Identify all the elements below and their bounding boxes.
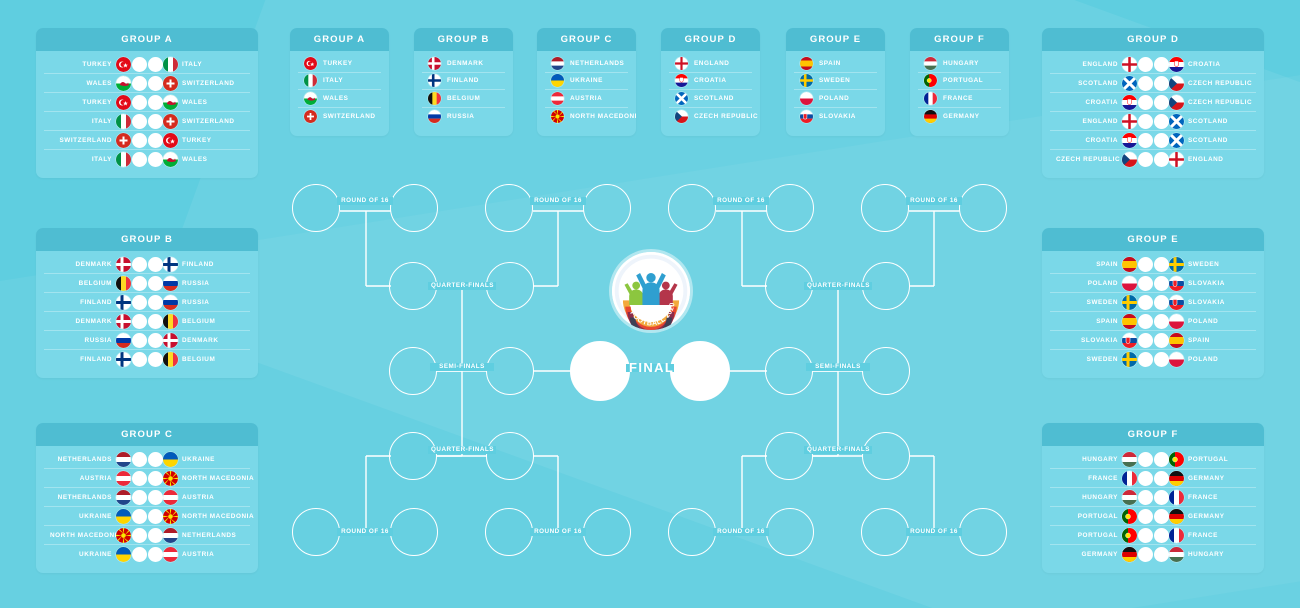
group-title: GROUP D <box>1042 28 1264 51</box>
score-away[interactable] <box>148 314 163 329</box>
home-team: PORTUGAL <box>1056 532 1122 539</box>
flag-slovakia <box>1169 276 1184 291</box>
bracket-node-r16-5[interactable] <box>668 184 716 232</box>
score-away[interactable] <box>1154 452 1169 467</box>
score-away[interactable] <box>1154 257 1169 272</box>
score-away[interactable] <box>1154 276 1169 291</box>
flag-czech-republic <box>1122 152 1137 167</box>
score-home[interactable] <box>1138 547 1153 562</box>
away-team: SCOTLAND <box>1184 137 1250 144</box>
score-away[interactable] <box>148 471 163 486</box>
match-row[interactable]: WALESSWITZERLAND <box>44 74 250 93</box>
group-panel-e: GROUP E SPAINSWEDEN POLANDSLOVAKIA SWEDE… <box>1042 228 1264 378</box>
flag-germany <box>1169 471 1184 486</box>
match-row[interactable]: SWEDENPOLAND <box>1050 350 1256 369</box>
match-row[interactable]: FRANCEGERMANY <box>1050 469 1256 488</box>
bracket-node-r16-14[interactable] <box>766 508 814 556</box>
score-away[interactable] <box>1154 76 1169 91</box>
bracket-node-r16-12[interactable] <box>583 508 631 556</box>
group-matches: ENGLANDCROATIA SCOTLANDCZECH REPUBLIC CR… <box>1042 51 1264 175</box>
match-row[interactable]: BELGIUMRUSSIA <box>44 274 250 293</box>
score-away[interactable] <box>1154 547 1169 562</box>
away-team: RUSSIA <box>178 299 244 306</box>
flag-netherlands <box>116 452 131 467</box>
flag-finland <box>116 295 131 310</box>
match-row[interactable]: SWEDENSLOVAKIA <box>1050 293 1256 312</box>
score-home[interactable] <box>132 57 147 72</box>
home-team: SWEDEN <box>1056 299 1122 306</box>
flag-austria <box>551 92 564 105</box>
home-team: SWITZERLAND <box>50 137 116 144</box>
team-name: SCOTLAND <box>694 95 734 102</box>
bracket-node-r16-7[interactable] <box>861 184 909 232</box>
score-home[interactable] <box>1138 333 1153 348</box>
match-row[interactable]: AUSTRIANORTH MACEDONIA <box>44 469 250 488</box>
bracket-label-final: FINAL <box>626 364 674 372</box>
score-away[interactable] <box>1154 333 1169 348</box>
away-team: SCOTLAND <box>1184 118 1250 125</box>
score-away[interactable] <box>1154 352 1169 367</box>
score-home[interactable] <box>132 257 147 272</box>
score-home[interactable] <box>1138 352 1153 367</box>
score-home[interactable] <box>132 276 147 291</box>
bracket-node-r16-4[interactable] <box>583 184 631 232</box>
bracket-node-final-left[interactable] <box>570 341 630 401</box>
group-panel-f: GROUP F HUNGARYPORTUGAL FRANCEGERMANY HU… <box>1042 423 1264 573</box>
list-item[interactable]: NETHERLANDS <box>545 55 628 73</box>
score-home[interactable] <box>132 76 147 91</box>
bracket-node-r16-8[interactable] <box>959 184 1007 232</box>
group-title: GROUP A <box>36 28 258 51</box>
bracket-node-r16-3[interactable] <box>485 184 533 232</box>
score-away[interactable] <box>1154 95 1169 110</box>
team-name: SWEDEN <box>819 77 850 84</box>
list-item[interactable]: BELGIUM <box>422 90 505 108</box>
flag-russia <box>163 295 178 310</box>
flag-czech-republic <box>1169 76 1184 91</box>
team-name: ENGLAND <box>694 60 729 67</box>
team-name: TURKEY <box>323 60 353 67</box>
score-home[interactable] <box>1138 528 1153 543</box>
away-team: AUSTRIA <box>178 494 244 501</box>
home-team: UKRAINE <box>50 551 116 558</box>
away-team: FRANCE <box>1184 532 1250 539</box>
list-item[interactable]: AUSTRIA <box>545 90 628 108</box>
list-item[interactable]: NORTH MACEDONIA <box>545 108 628 126</box>
flag-poland <box>1169 352 1184 367</box>
bracket-node-r16-11[interactable] <box>485 508 533 556</box>
away-team: DENMARK <box>178 337 244 344</box>
team-name: CROATIA <box>694 77 727 84</box>
bracket-node-r16-16[interactable] <box>959 508 1007 556</box>
group-matches: HUNGARYPORTUGAL FRANCEGERMANY HUNGARYFRA… <box>1042 446 1264 570</box>
flag-poland <box>800 92 813 105</box>
home-team: FRANCE <box>1056 475 1122 482</box>
score-home[interactable] <box>1138 452 1153 467</box>
score-away[interactable] <box>148 547 163 562</box>
away-team: SWITZERLAND <box>178 118 244 125</box>
score-home[interactable] <box>132 452 147 467</box>
flag-england <box>1122 114 1137 129</box>
list-item[interactable]: ENGLAND <box>669 55 752 73</box>
home-team: NETHERLANDS <box>50 456 116 463</box>
logo-artwork: FOOTBALL 2020 <box>612 252 690 330</box>
home-team: CZECH REPUBLIC <box>1056 156 1122 163</box>
score-away[interactable] <box>148 276 163 291</box>
score-home[interactable] <box>132 152 147 167</box>
flag-ukraine <box>551 74 564 87</box>
bracket-node-sf-1[interactable] <box>389 347 437 395</box>
score-home[interactable] <box>132 133 147 148</box>
score-home[interactable] <box>132 352 147 367</box>
flag-czech-republic <box>675 110 688 123</box>
match-row[interactable]: SPAINSWEDEN <box>1050 255 1256 274</box>
match-row[interactable]: POLANDSLOVAKIA <box>1050 274 1256 293</box>
home-team: SPAIN <box>1056 318 1122 325</box>
score-home[interactable] <box>1138 490 1153 505</box>
match-row[interactable]: NETHERLANDSAUSTRIA <box>44 488 250 507</box>
flag-wales <box>163 152 178 167</box>
standings-panel-group-e: GROUP E SPAIN SWEDEN POLAND SLOVAKIA <box>786 28 885 136</box>
home-team: SPAIN <box>1056 261 1122 268</box>
bracket-label-sf-1: SEMI-FINALS <box>430 363 494 371</box>
list-item[interactable]: TURKEY <box>298 55 381 73</box>
score-home[interactable] <box>132 547 147 562</box>
bracket-node-qf-7[interactable] <box>765 432 813 480</box>
group-matches: DENMARKFINLAND BELGIUMRUSSIA FINLANDRUSS… <box>36 251 258 375</box>
flag-finland <box>116 352 131 367</box>
list-item[interactable]: UKRAINE <box>545 73 628 91</box>
football-2020-logo: FOOTBALL 2020 <box>612 252 690 330</box>
match-row[interactable]: ENGLANDSCOTLAND <box>1050 112 1256 131</box>
flag-russia <box>428 110 441 123</box>
flag-north-macedonia <box>551 110 564 123</box>
score-home[interactable] <box>132 490 147 505</box>
flag-turkey <box>116 95 131 110</box>
bracket-node-r16-13[interactable] <box>668 508 716 556</box>
home-team: ENGLAND <box>1056 118 1122 125</box>
home-team: ITALY <box>50 118 116 125</box>
team-name: BELGIUM <box>447 95 480 102</box>
away-team: HUNGARY <box>1184 551 1250 558</box>
score-home[interactable] <box>132 471 147 486</box>
score-away[interactable] <box>148 57 163 72</box>
flag-belgium <box>428 92 441 105</box>
flag-portugal <box>1122 528 1137 543</box>
home-team: CROATIA <box>1056 137 1122 144</box>
away-team: SLOVAKIA <box>1184 299 1250 306</box>
group-panel-b: GROUP B DENMARKFINLAND BELGIUMRUSSIA FIN… <box>36 228 258 378</box>
match-row[interactable]: NORTH MACEDONIANETHERLANDS <box>44 526 250 545</box>
flag-north-macedonia <box>163 509 178 524</box>
bracket-node-r16-6[interactable] <box>766 184 814 232</box>
bracket-label-r16-3: ROUND OF 16 <box>713 197 769 205</box>
bracket-node-sf-4[interactable] <box>862 347 910 395</box>
score-home[interactable] <box>1138 314 1153 329</box>
match-row[interactable]: RUSSIADENMARK <box>44 331 250 350</box>
flag-france <box>1169 490 1184 505</box>
score-home[interactable] <box>132 95 147 110</box>
score-away[interactable] <box>1154 490 1169 505</box>
flag-wales <box>304 92 317 105</box>
flag-italy <box>116 152 131 167</box>
match-row[interactable]: ENGLANDCROATIA <box>1050 55 1256 74</box>
flag-wales <box>163 95 178 110</box>
bracket-label-r16-5: ROUND OF 16 <box>337 528 393 536</box>
flag-turkey <box>116 57 131 72</box>
flag-scotland <box>1169 114 1184 129</box>
flag-netherlands <box>116 490 131 505</box>
group-title: GROUP F <box>1042 423 1264 446</box>
flag-croatia <box>675 74 688 87</box>
list-item[interactable]: POLAND <box>794 90 877 108</box>
away-team: FINLAND <box>178 261 244 268</box>
match-row[interactable]: ITALYWALES <box>44 150 250 169</box>
list-item[interactable]: DENMARK <box>422 55 505 73</box>
bracket-label-r16-4: ROUND OF 16 <box>906 197 962 205</box>
score-away[interactable] <box>1154 314 1169 329</box>
bracket-node-qf-8[interactable] <box>862 432 910 480</box>
flag-croatia <box>1169 57 1184 72</box>
match-row[interactable]: SCOTLANDCZECH REPUBLIC <box>1050 74 1256 93</box>
score-home[interactable] <box>132 114 147 129</box>
score-away[interactable] <box>1154 152 1169 167</box>
flag-hungary <box>1169 547 1184 562</box>
match-row[interactable]: HUNGARYFRANCE <box>1050 488 1256 507</box>
away-team: GERMANY <box>1184 513 1250 520</box>
bracket-node-r16-10[interactable] <box>390 508 438 556</box>
flag-ukraine <box>116 509 131 524</box>
home-team: SWEDEN <box>1056 356 1122 363</box>
away-team: WALES <box>178 156 244 163</box>
score-away[interactable] <box>1154 528 1169 543</box>
list-item[interactable]: ITALY <box>298 73 381 91</box>
bracket-node-sf-3[interactable] <box>765 347 813 395</box>
team-name: FINLAND <box>447 77 479 84</box>
flag-slovakia <box>800 110 813 123</box>
list-item[interactable]: SLOVAKIA <box>794 108 877 126</box>
flag-finland <box>428 74 441 87</box>
away-team: POLAND <box>1184 356 1250 363</box>
score-home[interactable] <box>132 333 147 348</box>
score-home[interactable] <box>1138 295 1153 310</box>
match-row[interactable]: FINLANDRUSSIA <box>44 293 250 312</box>
bracket-node-r16-2[interactable] <box>390 184 438 232</box>
away-team: CZECH REPUBLIC <box>1184 80 1250 87</box>
team-name: FRANCE <box>943 95 973 102</box>
away-team: NETHERLANDS <box>178 532 244 539</box>
flag-france <box>924 92 937 105</box>
list-item[interactable]: WALES <box>298 90 381 108</box>
list-item[interactable]: PORTUGAL <box>918 73 1001 91</box>
list-item[interactable]: HUNGARY <box>918 55 1001 73</box>
home-team: UKRAINE <box>50 513 116 520</box>
bracket-node-final-right[interactable] <box>670 341 730 401</box>
away-team: NORTH MACEDONIA <box>178 513 244 520</box>
score-away[interactable] <box>1154 57 1169 72</box>
tournament-bracket-poster: ROUND OF 16 ROUND OF 16 ROUND OF 16 ROUN… <box>0 0 1300 608</box>
score-home[interactable] <box>1138 76 1153 91</box>
match-row[interactable]: TURKEYITALY <box>44 55 250 74</box>
bracket-label-r16-1: ROUND OF 16 <box>337 197 393 205</box>
match-row[interactable]: ITALYSWITZERLAND <box>44 112 250 131</box>
score-away[interactable] <box>148 152 163 167</box>
list-item[interactable]: FRANCE <box>918 90 1001 108</box>
score-home[interactable] <box>1138 95 1153 110</box>
bracket-node-qf-6[interactable] <box>486 432 534 480</box>
home-team: HUNGARY <box>1056 456 1122 463</box>
flag-slovakia <box>1169 295 1184 310</box>
flag-denmark <box>116 257 131 272</box>
score-away[interactable] <box>148 257 163 272</box>
home-team: DENMARK <box>50 261 116 268</box>
away-team: UKRAINE <box>178 456 244 463</box>
match-row[interactable]: DENMARKBELGIUM <box>44 312 250 331</box>
group-matches: TURKEYITALY WALESSWITZERLAND TURKEYWALES… <box>36 51 258 175</box>
away-team: BELGIUM <box>178 318 244 325</box>
flag-spain <box>800 57 813 70</box>
score-home[interactable] <box>1138 57 1153 72</box>
match-row[interactable]: PORTUGALGERMANY <box>1050 507 1256 526</box>
list-item[interactable]: SCOTLAND <box>669 90 752 108</box>
away-team: GERMANY <box>1184 475 1250 482</box>
bracket-node-qf-5[interactable] <box>389 432 437 480</box>
bracket-node-r16-9[interactable] <box>292 508 340 556</box>
home-team: CROATIA <box>1056 99 1122 106</box>
score-home[interactable] <box>132 295 147 310</box>
score-away[interactable] <box>148 452 163 467</box>
list-item[interactable]: CZECH REPUBLIC <box>669 108 752 126</box>
home-team: TURKEY <box>50 99 116 106</box>
match-row[interactable]: PORTUGALFRANCE <box>1050 526 1256 545</box>
score-home[interactable] <box>1138 152 1153 167</box>
home-team: BELGIUM <box>50 280 116 287</box>
flag-germany <box>1169 509 1184 524</box>
team-name: SLOVAKIA <box>819 113 856 120</box>
list-item[interactable]: RUSSIA <box>422 108 505 126</box>
bracket-node-sf-2[interactable] <box>486 347 534 395</box>
group-panel-d: GROUP D ENGLANDCROATIA SCOTLANDCZECH REP… <box>1042 28 1264 178</box>
list-item[interactable]: SPAIN <box>794 55 877 73</box>
flag-belgium <box>116 276 131 291</box>
match-row[interactable]: CROATIACZECH REPUBLIC <box>1050 93 1256 112</box>
score-away[interactable] <box>148 295 163 310</box>
match-row[interactable]: SLOVAKIASPAIN <box>1050 331 1256 350</box>
score-away[interactable] <box>148 133 163 148</box>
standings-title: GROUP F <box>910 28 1009 51</box>
flag-portugal <box>924 74 937 87</box>
score-away[interactable] <box>148 76 163 91</box>
bracket-node-r16-15[interactable] <box>861 508 909 556</box>
score-home[interactable] <box>1138 509 1153 524</box>
score-away[interactable] <box>148 95 163 110</box>
flag-croatia <box>1122 95 1137 110</box>
group-panel-c: GROUP C NETHERLANDSUKRAINE AUSTRIANORTH … <box>36 423 258 573</box>
flag-switzerland <box>163 114 178 129</box>
flag-russia <box>116 333 131 348</box>
match-row[interactable]: UKRAINEAUSTRIA <box>44 545 250 564</box>
flag-switzerland <box>304 110 317 123</box>
team-name: NORTH MACEDONIA <box>570 113 636 120</box>
flag-germany <box>924 110 937 123</box>
score-away[interactable] <box>1154 471 1169 486</box>
score-home[interactable] <box>1138 257 1153 272</box>
match-row[interactable]: TURKEYWALES <box>44 93 250 112</box>
score-away[interactable] <box>1154 133 1169 148</box>
score-away[interactable] <box>148 490 163 505</box>
bracket-label-qf-1: QUARTER-FINALS <box>428 282 496 290</box>
team-name: CZECH REPUBLIC <box>694 113 758 120</box>
score-away[interactable] <box>148 528 163 543</box>
flag-poland <box>1122 276 1137 291</box>
score-home[interactable] <box>132 314 147 329</box>
flag-england <box>1122 57 1137 72</box>
match-row[interactable]: SPAINPOLAND <box>1050 312 1256 331</box>
list-item[interactable]: SWEDEN <box>794 73 877 91</box>
score-home[interactable] <box>132 509 147 524</box>
group-title: GROUP B <box>36 228 258 251</box>
team-name: WALES <box>323 95 348 102</box>
flag-switzerland <box>116 133 131 148</box>
standings-panel-group-d: GROUP D ENGLAND CROATIA SCOTLAND CZECH R… <box>661 28 760 136</box>
score-away[interactable] <box>1154 114 1169 129</box>
match-row[interactable]: GERMANYHUNGARY <box>1050 545 1256 564</box>
score-home[interactable] <box>1138 471 1153 486</box>
list-item[interactable]: SWITZERLAND <box>298 108 381 126</box>
score-home[interactable] <box>1138 114 1153 129</box>
list-item[interactable]: GERMANY <box>918 108 1001 126</box>
score-away[interactable] <box>148 352 163 367</box>
match-row[interactable]: NETHERLANDSUKRAINE <box>44 450 250 469</box>
score-away[interactable] <box>1154 295 1169 310</box>
match-row[interactable]: CROATIASCOTLAND <box>1050 131 1256 150</box>
score-home[interactable] <box>1138 133 1153 148</box>
score-home[interactable] <box>132 528 147 543</box>
score-away[interactable] <box>148 509 163 524</box>
match-row[interactable]: FINLANDBELGIUM <box>44 350 250 369</box>
home-team: SCOTLAND <box>1056 80 1122 87</box>
flag-italy <box>116 114 131 129</box>
home-team: TURKEY <box>50 61 116 68</box>
match-row[interactable]: CZECH REPUBLICENGLAND <box>1050 150 1256 169</box>
away-team: NORTH MACEDONIA <box>178 475 244 482</box>
flag-england <box>675 57 688 70</box>
list-item[interactable]: FINLAND <box>422 73 505 91</box>
score-away[interactable] <box>1154 509 1169 524</box>
flag-czech-republic <box>1169 95 1184 110</box>
flag-hungary <box>924 57 937 70</box>
home-team: POLAND <box>1056 280 1122 287</box>
match-row[interactable]: DENMARKFINLAND <box>44 255 250 274</box>
match-row[interactable]: HUNGARYPORTUGAL <box>1050 450 1256 469</box>
flag-slovakia <box>1122 333 1137 348</box>
away-team: SLOVAKIA <box>1184 280 1250 287</box>
away-team: AUSTRIA <box>178 551 244 558</box>
score-home[interactable] <box>1138 276 1153 291</box>
score-away[interactable] <box>148 114 163 129</box>
match-row[interactable]: SWITZERLANDTURKEY <box>44 131 250 150</box>
score-away[interactable] <box>148 333 163 348</box>
bracket-node-r16-1[interactable] <box>292 184 340 232</box>
standings-title: GROUP D <box>661 28 760 51</box>
match-row[interactable]: UKRAINENORTH MACEDONIA <box>44 507 250 526</box>
away-team: ENGLAND <box>1184 156 1250 163</box>
standings-body: TURKEY ITALY WALES SWITZERLAND <box>290 51 389 131</box>
list-item[interactable]: CROATIA <box>669 73 752 91</box>
flag-denmark <box>163 333 178 348</box>
group-title: GROUP E <box>1042 228 1264 251</box>
team-name: SPAIN <box>819 60 841 67</box>
